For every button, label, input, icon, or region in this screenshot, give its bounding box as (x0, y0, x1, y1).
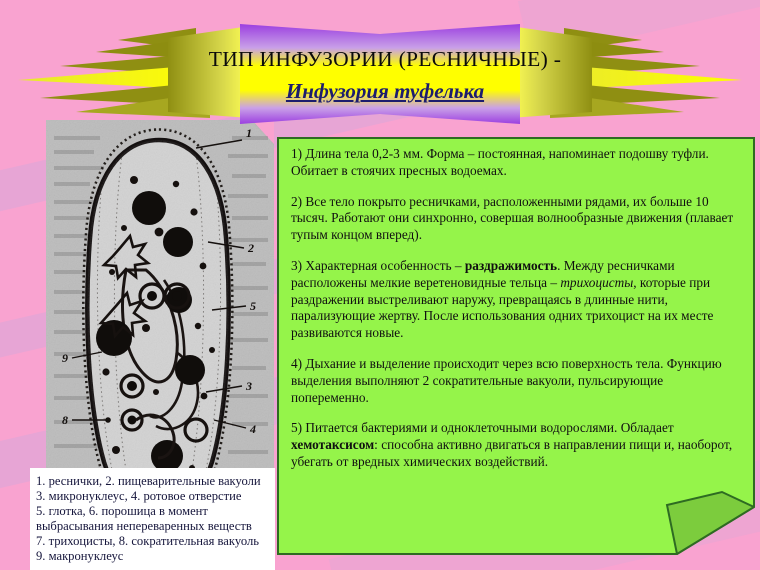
content-text: 1) Длина тела 0,2-3 мм. Форма – постоянн… (291, 146, 743, 471)
food-vacuole (175, 355, 205, 385)
paragraph-3: 3) Характерная особенность – раздражимос… (291, 258, 743, 342)
legend-line: выбрасывания непереваренных веществ (36, 519, 271, 534)
legend-line: 5. глотка, 6. порошица в момент (36, 504, 271, 519)
food-vacuole (132, 191, 166, 225)
text-run-normal: 2) Все тело покрыто ресничками, располож… (291, 194, 733, 243)
text-run-normal: 1) Длина тела 0,2-3 мм. Форма – постоянн… (291, 146, 709, 178)
text-run-normal: 3) Характерная особенность – (291, 258, 465, 273)
banner-ribbon-shape (0, 20, 760, 132)
svg-text:2: 2 (247, 241, 254, 255)
svg-text:3: 3 (245, 379, 252, 393)
content-box: 1) Длина тела 0,2-3 мм. Форма – постоянн… (277, 137, 755, 555)
paragraph-5: 5) Питается бактериями и одноклеточными … (291, 420, 743, 470)
text-run-normal: 4) Дыхание и выделение происходит через … (291, 356, 722, 405)
svg-text:8: 8 (62, 413, 68, 427)
text-run-normal: 5) Питается бактериями и одноклеточными … (291, 420, 674, 435)
text-run-bold: хемотаксисом (291, 437, 374, 452)
text-run-italic: трихоцисты (560, 275, 633, 290)
photo-legend-box: 1. реснички, 2. пищеварительные вакуоли … (30, 468, 275, 570)
paragraph-1: 1) Длина тела 0,2-3 мм. Форма – постоянн… (291, 146, 743, 180)
svg-text:4: 4 (249, 422, 256, 436)
legend-line: 1. реснички, 2. пищеварительные вакуоли (36, 474, 271, 489)
legend-line: 9. макронуклеус (36, 549, 271, 564)
legend-line: 3. микронуклеус, 4. ротовое отверстие (36, 489, 271, 504)
paragraph-4: 4) Дыхание и выделение происходит через … (291, 356, 743, 406)
legend-line: 7. трихоцисты, 8. сократительная вакуоль (36, 534, 271, 549)
folded-corner (667, 492, 754, 554)
text-run-bold: раздражимость (465, 258, 557, 273)
svg-text:9: 9 (62, 351, 68, 365)
paragraph-2: 2) Все тело покрыто ресничками, располож… (291, 194, 743, 244)
food-vacuole (163, 227, 193, 257)
title-banner: ТИП ИНФУЗОРИИ (РЕСНИЧНЫЕ) - Инфузория ту… (0, 20, 760, 132)
svg-text:5: 5 (250, 299, 256, 313)
